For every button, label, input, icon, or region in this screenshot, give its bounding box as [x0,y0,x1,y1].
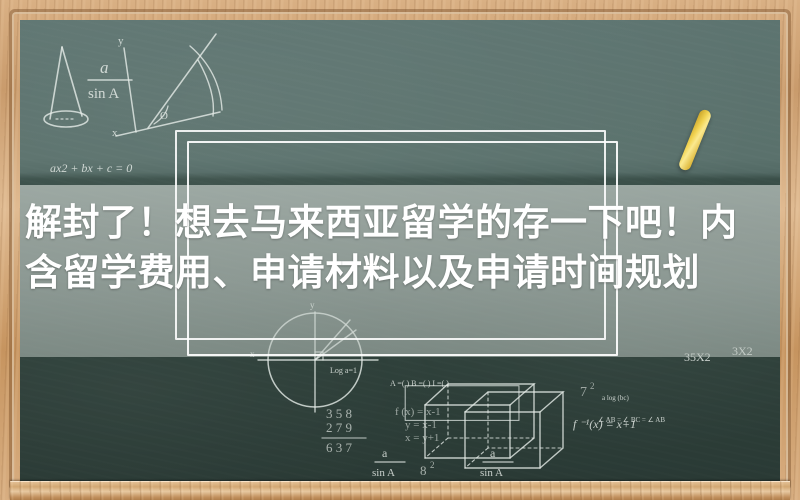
chalk-seven: 7 [580,385,587,400]
chalk-arith-row2: 2 7 9 [326,420,352,435]
chalk-inverse-function: f ⁻¹(x) = x+1 [573,417,636,431]
chalk-seven-exp: 2 [590,381,595,391]
chalk-matrix-dim-1: 35X2 [684,350,711,364]
chalk-angle-note: ∠ AB = ∠ BC = ∠ AB [598,416,665,424]
chalk-fx-line1: f (x) = x-1 [395,406,441,418]
chalk-fx-line2: y = x-1 [405,419,437,431]
chalk-stick-tilted-icon [677,108,712,172]
chalk-text-a: a [100,58,109,77]
chalk-fraction-asina: a sin A [88,58,132,102]
headline-line-1: 解封了！想去马来西亚留学的存一下吧！内 [25,201,738,244]
chalk-fx-line3: x = y+1 [405,432,439,444]
chalk-seven-squared: 7 2 [580,381,595,400]
chalk-eight: 8 [420,463,427,478]
chalk-bm-den: sin A [480,467,503,479]
chalk-function-block: f (x) = x-1 y = x-1 x = y+1 [395,406,441,444]
chalk-quadratic-equation: ax2 + bx + c = 0 [50,161,132,175]
chalk-fraction-bottom-left: a sin A [372,446,405,479]
chalk-log-note: a log (bc) [602,394,629,402]
chalk-matrix-note: A =( ) B =( ) I =( ) [390,379,449,388]
chalk-eight-squared: 8 2 [420,460,435,478]
chalk-ledge [10,481,790,500]
chalk-axis-x-label: x [112,127,118,139]
chalk-arith-row1: 3 5 8 [326,406,352,421]
poster-headline: 解封了！想去马来西亚留学的存一下吧！内 含留学费用、申请材料以及申请时间规划 [25,198,787,298]
chalk-bl-den: sin A [372,467,395,479]
chalk-cube-right-icon [405,384,534,458]
poster-canvas: a sin A y x O ax2 + bx + c = [0,0,800,500]
chalk-log-label: Log a=1 [330,366,357,375]
chalk-cone-icon [44,47,88,127]
chalk-arithmetic-stack: 3 5 8 2 7 9 6 3 7 [322,406,366,455]
chalk-angle-label: O [160,110,168,122]
chalk-eight-exp: 2 [430,460,435,470]
headline-line-2: 含留学费用、申请材料以及申请时间规划 [25,248,787,298]
chalk-axis-y-label: y [118,35,124,47]
chalk-arith-row3: 6 3 7 [326,440,353,455]
chalk-bm-num: a [490,446,496,460]
chalk-cube-center-icon [465,392,563,468]
chalk-text-sina: sin A [88,86,119,102]
chalk-bl-num: a [382,446,388,460]
chalk-fraction-bottom-mid: a sin A [480,446,513,479]
chalk-matrix-dim-2: 3X2 [732,344,753,358]
chalk-angle-construction: y x O [112,34,222,139]
